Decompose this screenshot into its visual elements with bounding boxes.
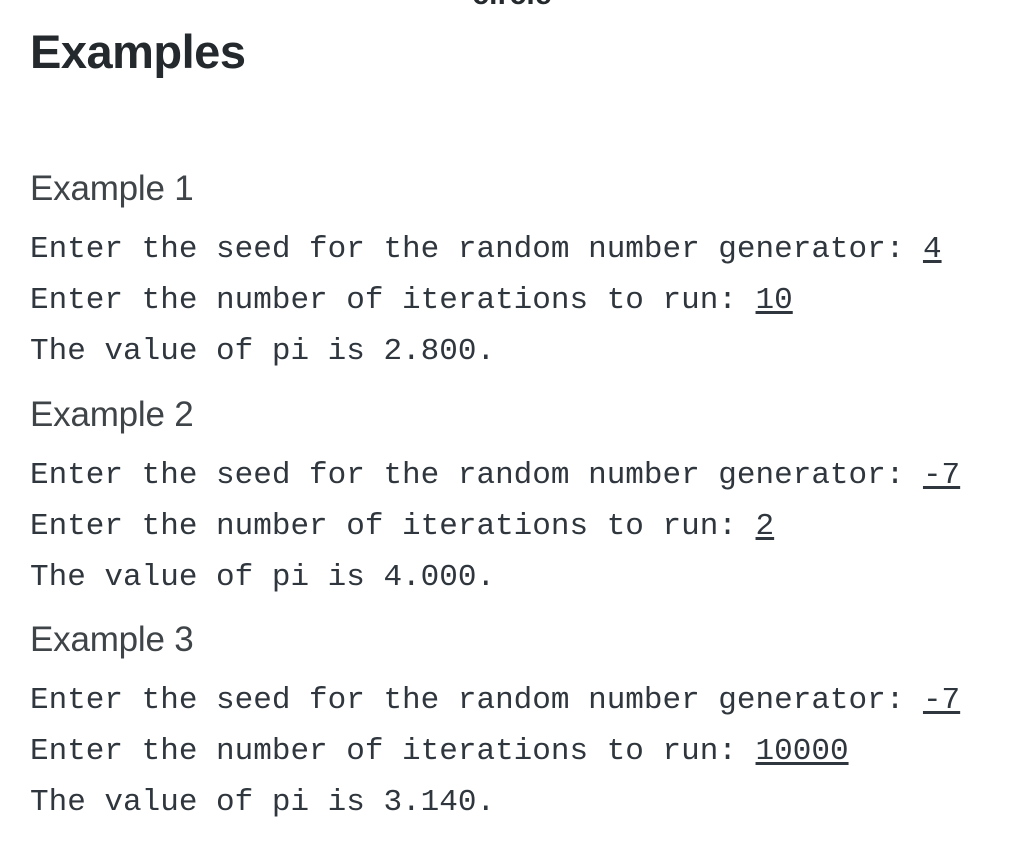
page-title: Examples <box>30 24 245 80</box>
console-prompt: Enter the number of iterations to run: <box>30 734 756 769</box>
console-line: Enter the seed for the random number gen… <box>30 450 1024 501</box>
console-line: Enter the seed for the random number gen… <box>30 224 1024 275</box>
console-line: Enter the number of iterations to run: 2 <box>30 501 1024 552</box>
example-section-2: Example 2 Enter the seed for the random … <box>30 394 1024 603</box>
console-prompt: Enter the seed for the random number gen… <box>30 232 923 267</box>
console-line: Enter the number of iterations to run: 1… <box>30 726 1024 777</box>
console-line: Enter the seed for the random number gen… <box>30 675 1024 726</box>
console-prompt: Enter the seed for the random number gen… <box>30 458 923 493</box>
console-user-input: -7 <box>923 458 960 493</box>
console-line: The value of pi is 3.140. <box>30 777 1024 828</box>
console-user-input: -7 <box>923 683 960 718</box>
console-output: The value of pi is 3.140. <box>30 785 495 820</box>
console-output: The value of pi is 2.800. <box>30 334 495 369</box>
example-2-console: Enter the seed for the random number gen… <box>30 450 1024 603</box>
example-section-1: Example 1 Enter the seed for the random … <box>30 168 1024 377</box>
example-1-title: Example 1 <box>30 168 1024 210</box>
example-3-console: Enter the seed for the random number gen… <box>30 675 1024 828</box>
console-line: The value of pi is 2.800. <box>30 326 1024 377</box>
example-3-title: Example 3 <box>30 619 1024 661</box>
console-prompt: Enter the number of iterations to run: <box>30 283 756 318</box>
console-user-input: 2 <box>756 509 775 544</box>
console-line: Enter the number of iterations to run: 1… <box>30 275 1024 326</box>
console-user-input: 4 <box>923 232 942 267</box>
console-prompt: Enter the seed for the random number gen… <box>30 683 923 718</box>
document-page: circle Examples Example 1 Enter the seed… <box>0 0 1024 844</box>
console-prompt: Enter the number of iterations to run: <box>30 509 756 544</box>
example-1-console: Enter the seed for the random number gen… <box>30 224 1024 377</box>
console-output: The value of pi is 4.000. <box>30 560 495 595</box>
console-user-input: 10000 <box>756 734 849 769</box>
console-line: The value of pi is 4.000. <box>30 552 1024 603</box>
example-2-title: Example 2 <box>30 394 1024 436</box>
console-user-input: 10 <box>756 283 793 318</box>
clipped-previous-heading: circle <box>0 0 1024 12</box>
example-section-3: Example 3 Enter the seed for the random … <box>30 619 1024 828</box>
